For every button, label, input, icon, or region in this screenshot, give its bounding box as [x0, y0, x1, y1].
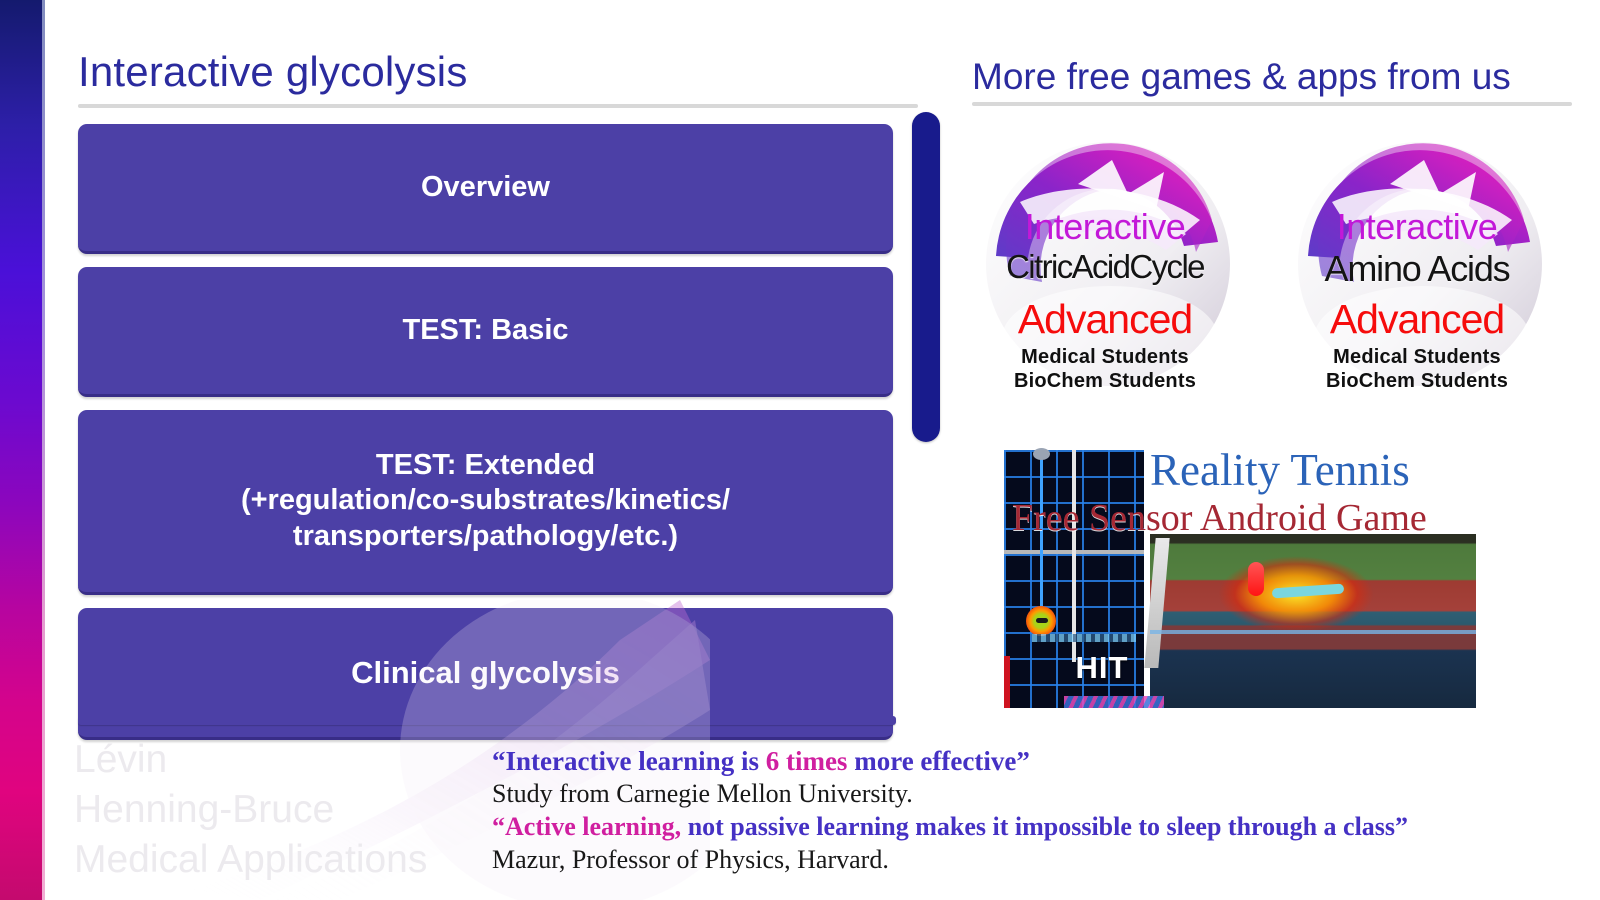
app-banner-reality-tennis[interactable]: HIT Reality Tennis Free Sensor Android G…: [1004, 434, 1476, 708]
watermark-line-2: Henning-Bruce: [74, 785, 504, 835]
menu-button-test-basic-label: TEST: Basic: [385, 313, 587, 348]
quote-2-highlight: “Active learning,: [492, 812, 681, 841]
tennis-grid-readout: [1032, 634, 1136, 642]
quote-1-highlight: 6 times: [766, 746, 848, 776]
apps-section-divider: [972, 102, 1572, 106]
quote-1-part-b: more effective”: [847, 746, 1029, 776]
main-menu: Overview TEST: Basic TEST: Extended (+re…: [78, 124, 893, 753]
tennis-court-line: [1150, 630, 1476, 634]
quote-source-1: Study from Carnegie Mellon University.: [492, 778, 1592, 811]
decorative-gradient-bar: [0, 0, 42, 900]
menu-scrollbar-thumb[interactable]: [912, 112, 940, 442]
quote-2-part-b: not passive learning makes it impossible…: [681, 812, 1408, 841]
tennis-ball-icon-detail: [1036, 618, 1048, 623]
app-logo-amino-acids[interactable]: Interactive Amino Acids Advanced Medical…: [1272, 124, 1562, 394]
tennis-title: Reality Tennis: [1150, 444, 1476, 496]
watermark-line-1: Lévin: [74, 735, 504, 785]
menu-button-clinical-glycolysis-label: Clinical glycolysis: [333, 654, 638, 692]
tennis-grid-waveform: [1064, 696, 1164, 708]
title-divider: [78, 104, 918, 108]
tennis-grid-origin-knob: [1033, 448, 1050, 460]
menu-button-test-extended[interactable]: TEST: Extended (+regulation/co-substrate…: [78, 410, 893, 595]
tennis-hit-label: HIT: [1060, 650, 1144, 686]
decorative-gradient-edge: [42, 0, 45, 900]
app-logo-interactive-label: Interactive: [960, 206, 1250, 248]
quote-line-2: “Active learning, not passive learning m…: [492, 811, 1592, 844]
quote-source-2: Mazur, Professor of Physics, Harvard.: [492, 844, 1592, 877]
tennis-grid-side-strip: [1004, 656, 1010, 708]
menu-bottom-divider: [78, 716, 896, 725]
app-logo-advanced-label: Advanced: [960, 296, 1250, 343]
tennis-subtitle: Free Sensor Android Game: [1012, 496, 1476, 540]
app-logo-advanced-label: Advanced: [1272, 296, 1562, 343]
watermark-credits: Lévin Henning-Bruce Medical Applications: [74, 735, 504, 885]
app-logo-audience-line-2: BioChem Students: [1272, 370, 1562, 393]
menu-button-overview[interactable]: Overview: [78, 124, 893, 254]
menu-button-overview-label: Overview: [403, 170, 568, 205]
app-logo-name-label: CitricAcidCycle: [960, 248, 1250, 286]
tennis-impact-marker: [1248, 562, 1264, 596]
app-logo-interactive-label: Interactive: [1272, 206, 1562, 248]
page-title: Interactive glycolysis: [78, 48, 468, 96]
quote-1-part-a: “Interactive learning is: [492, 746, 766, 776]
menu-button-test-extended-label: TEST: Extended (+regulation/co-substrate…: [223, 448, 748, 554]
tennis-court-photo: [1150, 534, 1476, 708]
watermark-line-3: Medical Applications: [74, 835, 504, 885]
quotes-block: “Interactive learning is 6 times more ef…: [492, 744, 1592, 876]
app-logo-name-label: Amino Acids: [1272, 248, 1562, 290]
app-logo-audience-line-1: Medical Students: [960, 346, 1250, 369]
apps-section-title: More free games & apps from us: [972, 56, 1511, 98]
app-logo-audience-line-1: Medical Students: [1272, 346, 1562, 369]
menu-button-test-basic[interactable]: TEST: Basic: [78, 267, 893, 397]
tennis-grid-vertical-line: [1072, 450, 1076, 662]
app-logo-audience-line-2: BioChem Students: [960, 370, 1250, 393]
quote-line-1: “Interactive learning is 6 times more ef…: [492, 744, 1592, 778]
menu-scrollbar[interactable]: [912, 112, 940, 442]
app-logo-citric-acid-cycle[interactable]: Interactive CitricAcidCycle Advanced Med…: [960, 124, 1250, 394]
